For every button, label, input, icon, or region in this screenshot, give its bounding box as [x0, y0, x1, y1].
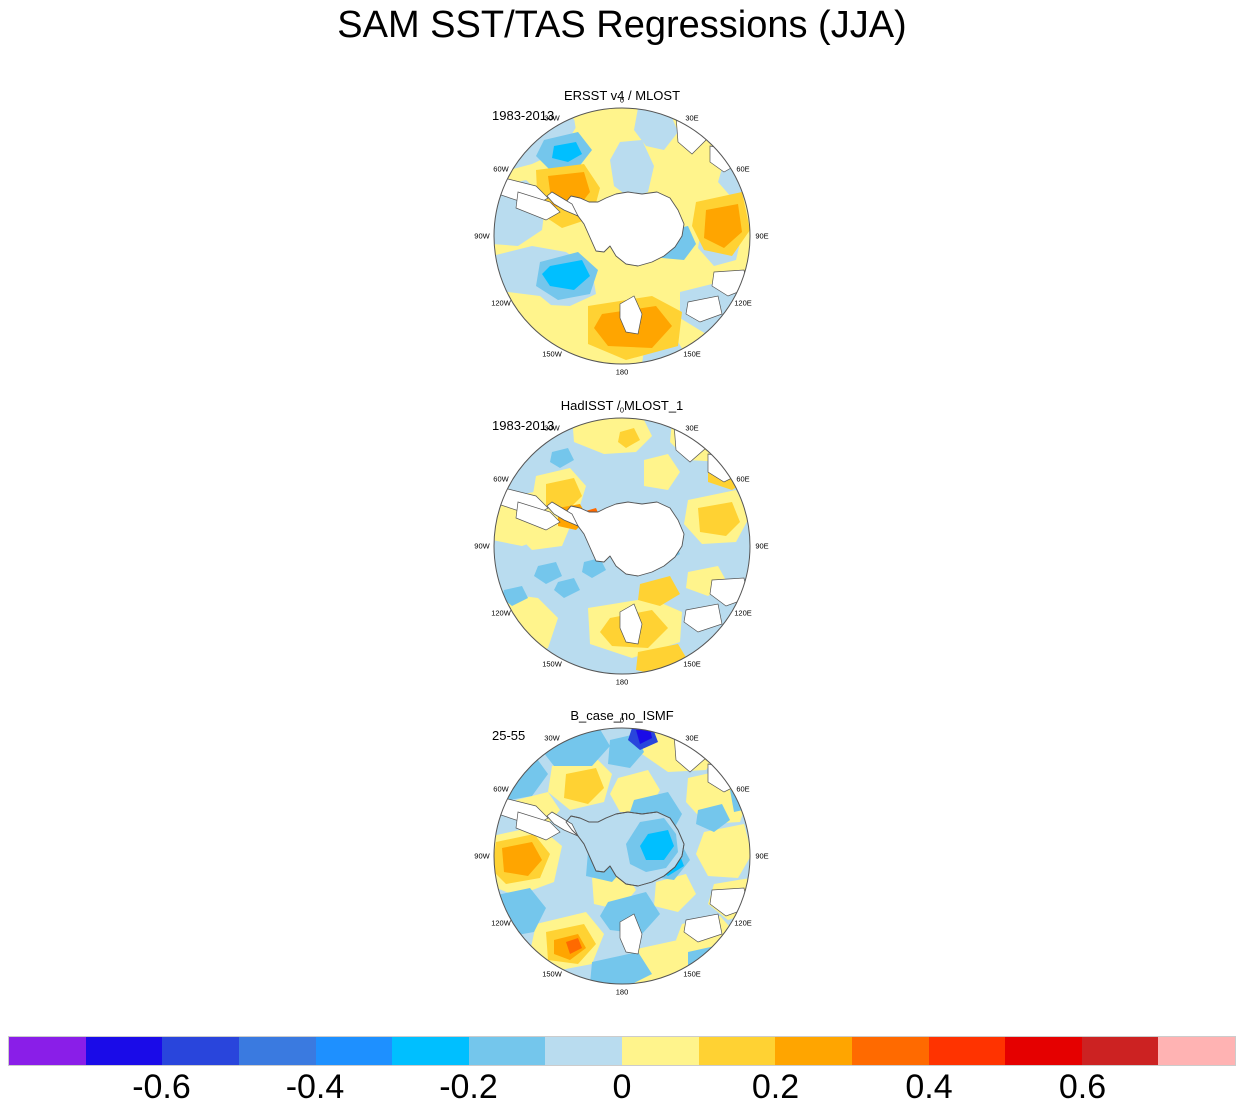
- lon-label-90w: 90W: [474, 542, 489, 551]
- lon-label-30e: 30E: [685, 734, 698, 743]
- lon-label-90w: 90W: [474, 852, 489, 861]
- lon-label-150w: 150W: [542, 350, 562, 359]
- lon-label-150w: 150W: [542, 660, 562, 669]
- lon-label-150e: 150E: [683, 660, 701, 669]
- lon-label-150e: 150E: [683, 350, 701, 359]
- lon-label-120w: 120W: [491, 299, 511, 308]
- lon-label-90e: 90E: [755, 232, 768, 241]
- colorbar-swatch-9: [699, 1037, 776, 1065]
- colorbar-tick-0.4: 0.4: [905, 1068, 952, 1107]
- lon-label-90w: 90W: [474, 232, 489, 241]
- lon-label-150e: 150E: [683, 970, 701, 979]
- lon-label-180: 180: [616, 678, 629, 687]
- lon-label-60e: 60E: [736, 785, 749, 794]
- colorbar-swatch-6: [469, 1037, 546, 1065]
- colorbar-swatch-10: [775, 1037, 852, 1065]
- lon-label-60w: 60W: [493, 165, 508, 174]
- lon-label-120e: 120E: [734, 609, 752, 618]
- polar-map-ersst: 0 30E 60E 90E 120E 150E 180 150W 120W 90…: [492, 106, 752, 366]
- lon-label-180: 180: [616, 368, 629, 377]
- colorbar-swatch-7: [545, 1037, 622, 1065]
- colorbar-swatch-15: [1158, 1037, 1235, 1065]
- lon-label-180: 180: [616, 988, 629, 997]
- lon-label-0: 0: [620, 96, 624, 105]
- colorbar-swatch-8: [622, 1037, 699, 1065]
- colorbar-tick-labels: -0.6-0.4-0.200.20.40.6: [0, 1068, 1244, 1112]
- colorbar-swatch-5: [392, 1037, 469, 1065]
- colorbar-swatch-14: [1082, 1037, 1159, 1065]
- colorbar-tick--0.4: -0.4: [286, 1068, 345, 1107]
- colorbar-swatch-12: [929, 1037, 1006, 1065]
- colorbar-swatch-4: [316, 1037, 393, 1065]
- map-svg: [492, 416, 752, 676]
- lon-label-30w: 30W: [544, 734, 559, 743]
- lon-label-30w: 30W: [544, 114, 559, 123]
- colorbar-swatch-2: [162, 1037, 239, 1065]
- colorbar-tick-0.6: 0.6: [1059, 1068, 1106, 1107]
- lon-label-60e: 60E: [736, 475, 749, 484]
- colorbar-tick-0: 0: [613, 1068, 632, 1107]
- lon-label-120e: 120E: [734, 919, 752, 928]
- lon-label-150w: 150W: [542, 970, 562, 979]
- lon-label-60e: 60E: [736, 165, 749, 174]
- lon-label-0: 0: [620, 406, 624, 415]
- lon-label-30w: 30W: [544, 424, 559, 433]
- colorbar-swatch-13: [1005, 1037, 1082, 1065]
- lon-label-120w: 120W: [491, 609, 511, 618]
- lon-label-120w: 120W: [491, 919, 511, 928]
- polar-map-hadisst: 0 30E 60E 90E 120E 150E 180 150W 120W 90…: [492, 416, 752, 676]
- lon-label-60w: 60W: [493, 785, 508, 794]
- lon-label-90e: 90E: [755, 852, 768, 861]
- colorbar-tick--0.6: -0.6: [132, 1068, 191, 1107]
- map-svg: [492, 106, 752, 366]
- lon-label-90e: 90E: [755, 542, 768, 551]
- polar-map-bcase: 0 30E 60E 90E 120E 150E 180 150W 120W 90…: [492, 726, 752, 986]
- colorbar-tick-0.2: 0.2: [752, 1068, 799, 1107]
- map-svg: [492, 726, 752, 986]
- colorbar: [8, 1036, 1236, 1066]
- colorbar-tick--0.2: -0.2: [439, 1068, 498, 1107]
- lon-label-60w: 60W: [493, 475, 508, 484]
- lon-label-30e: 30E: [685, 114, 698, 123]
- colorbar-swatch-0: [9, 1037, 86, 1065]
- lon-label-120e: 120E: [734, 299, 752, 308]
- colorbar-swatch-3: [239, 1037, 316, 1065]
- colorbar-swatch-1: [86, 1037, 163, 1065]
- lon-label-0: 0: [620, 716, 624, 725]
- figure-title: SAM SST/TAS Regressions (JJA): [0, 4, 1244, 47]
- colorbar-swatch-11: [852, 1037, 929, 1065]
- lon-label-30e: 30E: [685, 424, 698, 433]
